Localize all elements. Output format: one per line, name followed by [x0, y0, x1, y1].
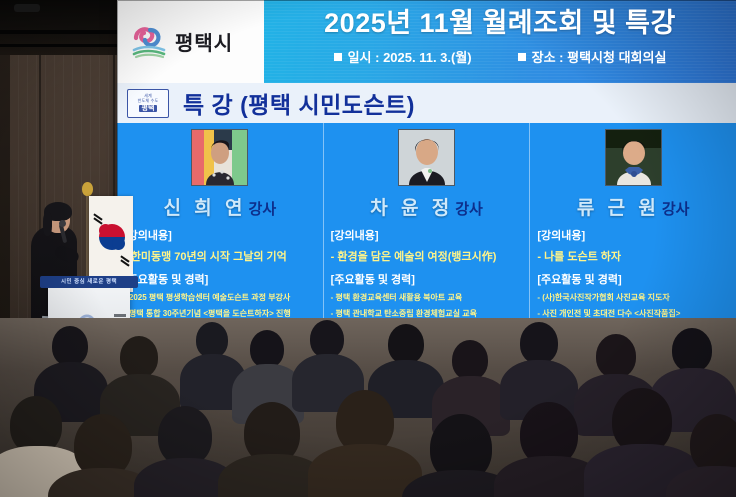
badge-line-2: 반도체 수도 [138, 99, 159, 103]
speaker-3-suffix: 강사 [662, 201, 690, 218]
audience-head [520, 322, 558, 364]
audience: DIGIT [0, 318, 736, 497]
banner-date-label: 일시 : 2025. 11. 3.(월) [348, 47, 472, 66]
taeguk-red-lobe [99, 224, 112, 237]
banner-date-item: 일시 : 2025. 11. 3.(월) [334, 47, 472, 66]
speaker-1-nameline: 신 희 연강사 [124, 193, 316, 220]
city-logo-label: 평택시 [175, 27, 233, 56]
presenter-hair-side [43, 212, 52, 236]
banner-place-label: 장소 : 평택시청 대회의실 [532, 47, 667, 66]
square-bullet-icon [334, 53, 342, 61]
badge-line-3: 평택 [139, 105, 158, 112]
speaker-2-name: 차 윤 정 [370, 198, 453, 219]
lecture-slide: 세계 반도체 수도 평택 특 강 (평택 시민도슨트) [117, 83, 736, 330]
flag-finial [82, 182, 93, 196]
ceiling-rail-2 [0, 44, 118, 47]
projection-screen: 평택시 2025년 11월 월례조회 및 특강 일시 : 2025. 11. 3… [117, 0, 736, 330]
audience-head [52, 326, 88, 366]
speaker-2-content-label: [강의내용] [331, 227, 523, 243]
audience-head [310, 320, 344, 358]
audience-head [596, 334, 636, 378]
speaker-1-name: 신 희 연 [164, 198, 247, 219]
speaker-1-career-label: [주요활동 및 경력] [124, 271, 316, 287]
audience-head [196, 322, 228, 358]
ceiling-rail [0, 30, 118, 34]
speaker-card-3: 류 근 원강사 [강의내용] - 나를 도슨트 하자 [주요활동 및 경력] -… [529, 123, 736, 330]
banner-title: 2025년 11월 월례조회 및 특강 [264, 8, 736, 39]
speaker-3-career-0: - (사)한국사진작가협회 사진교육 지도자 [537, 292, 729, 303]
audience-head [690, 414, 736, 474]
podium-banner-text: 시민 중심 새로운 평택 [40, 276, 138, 288]
speaker-1-suffix: 강사 [249, 201, 277, 218]
portrait-speaker-1 [191, 129, 248, 186]
audience-head [158, 406, 212, 466]
lecture-slide-title: 특 강 (평택 시민도슨트) [183, 86, 415, 120]
speaker-3-career-label: [주요활동 및 경력] [537, 271, 729, 287]
speaker-2-nameline: 차 윤 정강사 [331, 193, 523, 220]
speaker-card-1: 신 희 연강사 [강의내용] - 한미동맹 70년의 시작 그날의 기억 [주요… [117, 123, 323, 330]
audience-head [120, 336, 158, 378]
speaker-2-topic: - 환경을 담은 예술의 여정(뱅크시作) [331, 248, 523, 264]
banner-subinfo: 일시 : 2025. 11. 3.(월) 장소 : 평택시청 대회의실 [264, 47, 736, 66]
taeguk-blue-lobe [112, 237, 125, 250]
portrait-speaker-3 [605, 129, 662, 186]
presentation-photo: 평택시 2025년 11월 월례조회 및 특강 일시 : 2025. 11. 3… [0, 0, 736, 497]
pyeongtaek-swirl-logo-icon [130, 25, 168, 59]
speaker-1-topic: - 한미동맹 70년의 시작 그날의 기억 [124, 248, 316, 264]
speaker-2-career-0: - 평택 환경교육센터 새활용 북아트 교육 [331, 292, 523, 303]
speaker-2-suffix: 강사 [455, 201, 483, 218]
audience-head [672, 328, 712, 372]
speaker-3-content-label: [강의내용] [537, 227, 729, 243]
audience-head [452, 340, 488, 380]
banner-place-item: 장소 : 평택시청 대회의실 [518, 47, 667, 66]
microphone-head-icon [59, 220, 66, 227]
lecture-slide-header: 세계 반도체 수도 평택 특 강 (평택 시민도슨트) [117, 83, 736, 123]
banner-title-band: 2025년 11월 월례조회 및 특강 일시 : 2025. 11. 3.(월)… [264, 0, 736, 83]
audience-head [388, 324, 424, 364]
portrait-speaker-2 [398, 129, 455, 186]
speaker-1-content-label: [강의내용] [124, 227, 316, 243]
speaker-3-nameline: 류 근 원강사 [537, 193, 729, 220]
audience-head [250, 330, 284, 368]
speaker-3-name: 류 근 원 [577, 198, 660, 219]
speaker-2-career-label: [주요활동 및 경력] [331, 271, 523, 287]
speaker-card-2: 차 윤 정강사 [강의내용] - 환경을 담은 예술의 여정(뱅크시作) [주요… [323, 123, 530, 330]
semiconductor-capital-badge-icon: 세계 반도체 수도 평택 [127, 89, 169, 118]
speaker-columns: 신 희 연강사 [강의내용] - 한미동맹 70년의 시작 그날의 기억 [주요… [117, 123, 736, 330]
city-logo-block: 평택시 [117, 0, 264, 83]
speaker-1-career-0: - 2025 평택 평생학습센터 예술도슨트 과정 부강사 [124, 292, 316, 303]
speaker-3-topic: - 나를 도슨트 하자 [537, 248, 729, 264]
ceiling-fixture [14, 4, 40, 12]
podium-banner: 시민 중심 새로운 평택 [40, 276, 138, 288]
square-bullet-icon-2 [518, 53, 526, 61]
banner-slide: 평택시 2025년 11월 월례조회 및 특강 일시 : 2025. 11. 3… [117, 0, 736, 83]
